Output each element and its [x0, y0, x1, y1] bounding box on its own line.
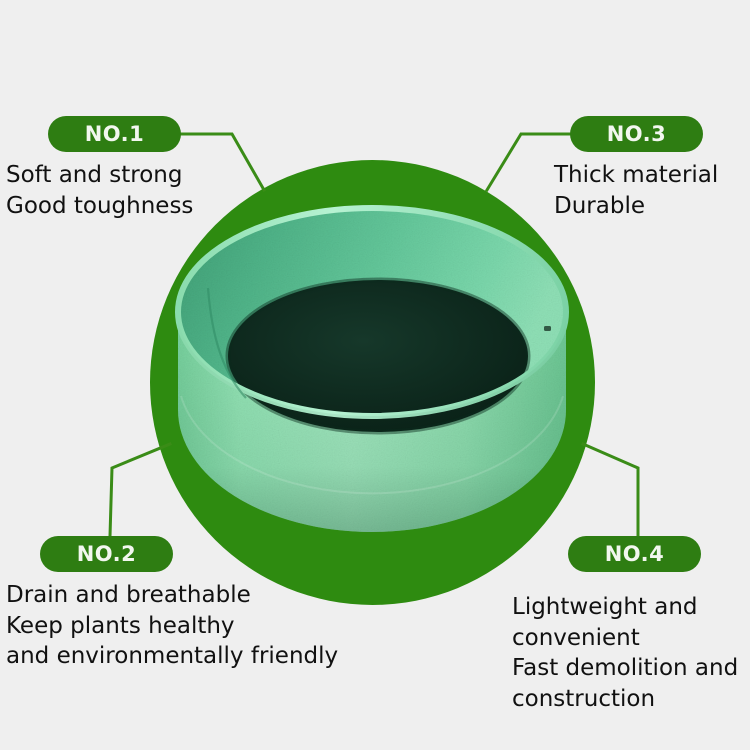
connector-line-2 [110, 444, 170, 536]
feature-text-1: Soft and strong Good toughness [6, 160, 193, 221]
connector-line-1 [181, 134, 264, 190]
feature-badge-2[interactable]: NO.2 [40, 536, 173, 572]
feature-text-4: Lightweight and convenient Fast demoliti… [512, 592, 738, 714]
connector-line-4 [583, 444, 638, 536]
feature-badge-1[interactable]: NO.1 [48, 116, 181, 152]
feature-text-3: Thick material Durable [554, 160, 718, 221]
feature-text-2: Drain and breathable Keep plants healthy… [6, 580, 338, 672]
infographic-canvas: NO.1 NO.3 NO.2 NO.4 Soft and strong Good… [0, 0, 750, 750]
feature-badge-4[interactable]: NO.4 [568, 536, 701, 572]
feature-badge-3[interactable]: NO.3 [570, 116, 703, 152]
hero-circle-background [150, 160, 595, 605]
